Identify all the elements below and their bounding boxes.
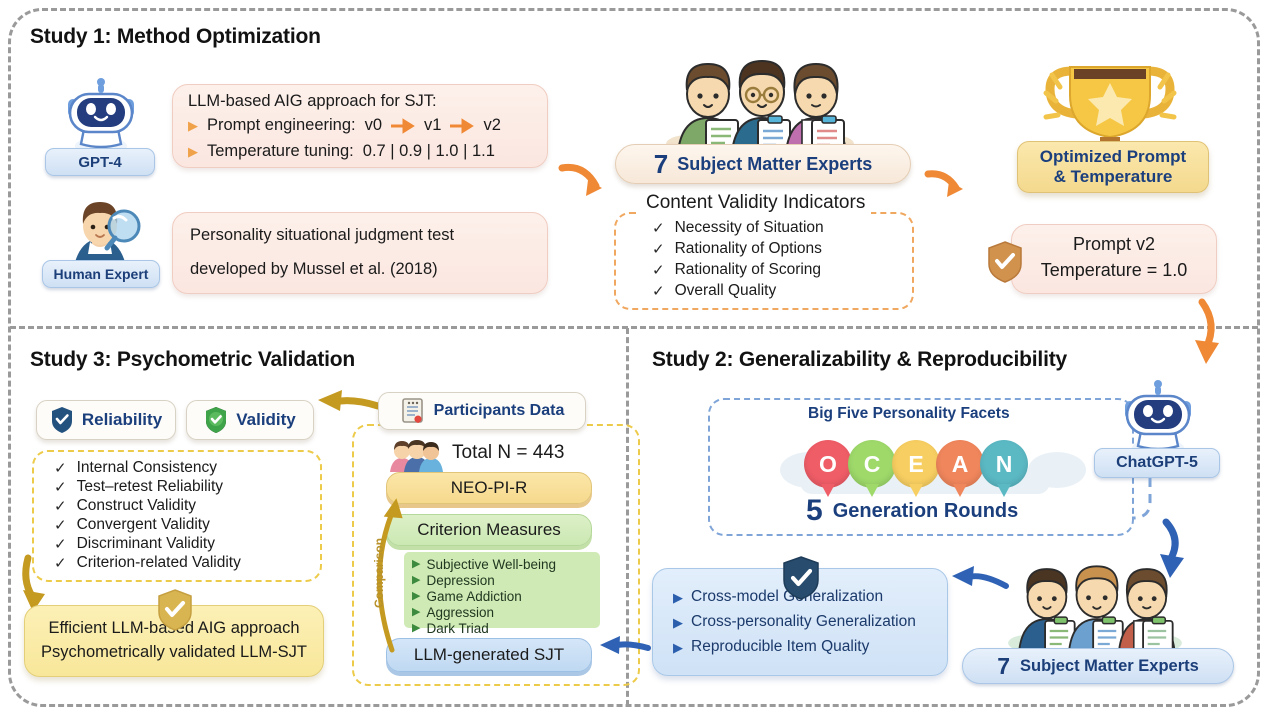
prompt-v2: v2 (483, 116, 500, 135)
triangle-bullet-icon: ▶ (412, 623, 420, 634)
study3-title: Study 3: Psychometric Validation (30, 348, 355, 372)
check-icon: ✓ (54, 461, 67, 476)
comparison-label: Comparison (372, 538, 386, 608)
ocean-letter: O (819, 451, 837, 478)
triangle-bullet-icon: ▶ (673, 591, 683, 604)
study2-title: Study 2: Generalizability & Reproducibil… (652, 348, 1067, 372)
bigfive-label: Big Five Personality Facets (800, 405, 1018, 423)
arrow-down-to-study2-icon (1180, 300, 1230, 380)
prompt-v1: v1 (424, 116, 441, 135)
total-n-label: Total N = 443 (452, 442, 565, 464)
outcome-item: ▶ Reproducible Item Quality (673, 638, 947, 656)
ocean-circle-n: N (980, 440, 1028, 488)
ocean-circle-e: E (892, 440, 940, 488)
sme-pill-study2: 7 Subject Matter Experts (962, 648, 1234, 684)
criterion-item-label: Dark Triad (426, 621, 488, 636)
method-bullet-prompt: ▶ Prompt engineering: v0 v1 v2 (188, 116, 501, 135)
criteria-item: ✓ Convergent Validity (54, 516, 241, 534)
ocean-letter: N (996, 451, 1013, 478)
validity-badge: Validity (186, 400, 314, 440)
check-icon: ✓ (54, 518, 67, 533)
check-icon: ✓ (54, 480, 67, 495)
validity-item: ✓ Rationality of Options (652, 240, 824, 258)
method-bullet-temperature: ▶ Temperature tuning: 0.7 | 0.9 | 1.0 | … (188, 142, 495, 161)
participants-data-label: Participants Data (434, 402, 565, 420)
ocean-facets: O C E A N (804, 440, 1024, 488)
criteria-item: ✓ Test–retest Reliability (54, 478, 241, 496)
criterion-item: ▶ Dark Triad (412, 621, 592, 636)
conclusion-line2: Psychometrically validated LLM-SJT (41, 641, 307, 665)
llm-sjt-capsule: LLM-generated SJT (386, 638, 592, 672)
chatgpt5-label: ChatGPT-5 (1094, 448, 1220, 478)
ocean-circle-a: A (936, 440, 984, 488)
neo-pi-r-capsule: NEO-PI-R (386, 472, 592, 504)
validity-label: Validity (236, 410, 296, 430)
triangle-bullet-icon: ▶ (412, 591, 420, 602)
triangle-bullet-icon: ▶ (188, 119, 198, 132)
criterion-item: ▶ Depression (412, 573, 592, 588)
document-icon (400, 397, 426, 425)
ocean-letter: C (864, 451, 881, 478)
criteria-list: ✓ Internal Consistency ✓ Test–retest Rel… (54, 459, 241, 572)
criteria-item-label: Criterion-related Validity (77, 554, 241, 572)
criterion-item: ▶ Game Addiction (412, 589, 592, 604)
method-heading: LLM-based AIG approach for SJT: (188, 92, 437, 111)
reliability-label: Reliability (82, 410, 162, 430)
criterion-item: ▶ Aggression (412, 605, 592, 620)
criterion-item-label: Aggression (426, 605, 494, 620)
arrow-right-icon-2 (450, 120, 474, 132)
validity-item-label: Overall Quality (675, 282, 777, 300)
triangle-bullet-icon: ▶ (412, 559, 420, 570)
criteria-item: ✓ Internal Consistency (54, 459, 241, 477)
rounds-count: 5 (806, 494, 823, 528)
generation-rounds: 5 Generation Rounds (806, 494, 1018, 528)
temperature-tuning-label: Temperature tuning: (207, 142, 354, 161)
participants-data-badge: Participants Data (378, 392, 586, 430)
prompt-engineering-label: Prompt engineering: (207, 116, 356, 135)
criterion-measures-capsule: Criterion Measures (386, 514, 592, 546)
source-line1: Personality situational judgment test (190, 226, 454, 245)
triangle-bullet-icon: ▶ (673, 616, 683, 629)
trophy-line1: Optimized Prompt (1040, 147, 1186, 167)
result-line1: Prompt v2 (1011, 234, 1217, 255)
arrow-left-blue-icon (594, 630, 650, 658)
triangle-bullet-icon: ▶ (412, 575, 420, 586)
shield-navy-icon (50, 406, 74, 434)
shield-check-icon-study1 (986, 240, 1024, 284)
experts-group-icon-study2 (1000, 558, 1190, 656)
validity-item: ✓ Overall Quality (652, 282, 824, 300)
figure-canvas: Study 1: Method Optimization GPT-4 LLM-b… (0, 0, 1268, 715)
criteria-item-label: Construct Validity (77, 497, 196, 515)
participants-group-icon (388, 440, 444, 472)
shield-check-icon-study3 (156, 588, 194, 632)
sme-pill-study1: 7 Subject Matter Experts (615, 144, 911, 184)
check-icon: ✓ (652, 242, 665, 257)
shield-green-icon (204, 406, 228, 434)
ocean-circle-o: O (804, 440, 852, 488)
criteria-item-label: Discriminant Validity (77, 535, 215, 553)
ocean-letter: A (952, 451, 969, 478)
criterion-item-label: Depression (426, 573, 494, 588)
content-validity-list: ✓ Necessity of Situation ✓ Rationality o… (652, 219, 824, 300)
criteria-item-label: Internal Consistency (77, 459, 217, 477)
result-line2: Temperature = 1.0 (1011, 260, 1217, 281)
study1-title: Study 1: Method Optimization (30, 25, 321, 49)
outcome-item: ▶ Cross-personality Generalization (673, 613, 947, 631)
shield-navy-icon-study2 (780, 555, 822, 603)
validity-item: ✓ Necessity of Situation (652, 219, 824, 237)
ocean-circle-c: C (848, 440, 896, 488)
triangle-bullet-icon: ▶ (673, 641, 683, 654)
source-box (172, 212, 548, 294)
validity-item: ✓ Rationality of Scoring (652, 261, 824, 279)
experts-group-icon (662, 52, 858, 158)
triangle-bullet-icon-2: ▶ (188, 145, 198, 158)
sme-label-study1: Subject Matter Experts (677, 154, 872, 175)
panel-divider-horizontal (10, 326, 1258, 329)
sme-count-study2: 7 (997, 653, 1010, 680)
gpt4-label: GPT-4 (45, 148, 155, 176)
criterion-item: ▶ Subjective Well-being (412, 557, 592, 572)
rounds-label: Generation Rounds (833, 500, 1019, 523)
sme-label-study2: Subject Matter Experts (1020, 657, 1199, 676)
outcome-label: Cross-personality Generalization (691, 613, 916, 631)
criterion-measures-list: ▶ Subjective Well-being ▶ Depression ▶ G… (404, 552, 600, 628)
check-icon: ✓ (652, 263, 665, 278)
content-validity-heading: Content Validity Indicators (640, 192, 871, 214)
source-line2: developed by Mussel et al. (2018) (190, 260, 438, 279)
arrow-to-experts-icon (560, 160, 612, 202)
temperature-values: 0.7 | 0.9 | 1.0 | 1.1 (363, 142, 495, 161)
validity-item-label: Rationality of Options (675, 240, 822, 258)
arrow-left-gold-icon (310, 376, 382, 416)
validity-item-label: Rationality of Scoring (675, 261, 821, 279)
criteria-item: ✓ Criterion-related Validity (54, 554, 241, 572)
criterion-item-label: Game Addiction (426, 589, 521, 604)
criteria-item-label: Convergent Validity (77, 516, 210, 534)
check-icon: ✓ (652, 284, 665, 299)
validity-item-label: Necessity of Situation (675, 219, 824, 237)
arrow-to-trophy-icon (926, 168, 974, 202)
criteria-item-label: Test–retest Reliability (77, 478, 223, 496)
optimized-prompt-plate: Optimized Prompt & Temperature (1017, 141, 1209, 193)
check-icon: ✓ (54, 499, 67, 514)
triangle-bullet-icon: ▶ (412, 607, 420, 618)
trophy-line2: & Temperature (1054, 167, 1173, 187)
criteria-item: ✓ Discriminant Validity (54, 535, 241, 553)
check-icon: ✓ (652, 221, 665, 236)
criteria-item: ✓ Construct Validity (54, 497, 241, 515)
gpt4-robot-icon (58, 72, 144, 158)
arrow-right-icon (391, 120, 415, 132)
reliability-badge: Reliability (36, 400, 176, 440)
prompt-v0: v0 (365, 116, 382, 135)
check-icon: ✓ (54, 537, 67, 552)
sme-count-study1: 7 (654, 149, 668, 180)
ocean-letter: E (908, 451, 923, 478)
criterion-item-label: Subjective Well-being (426, 557, 556, 572)
human-expert-label: Human Expert (42, 260, 160, 288)
outcome-label: Reproducible Item Quality (691, 638, 869, 656)
